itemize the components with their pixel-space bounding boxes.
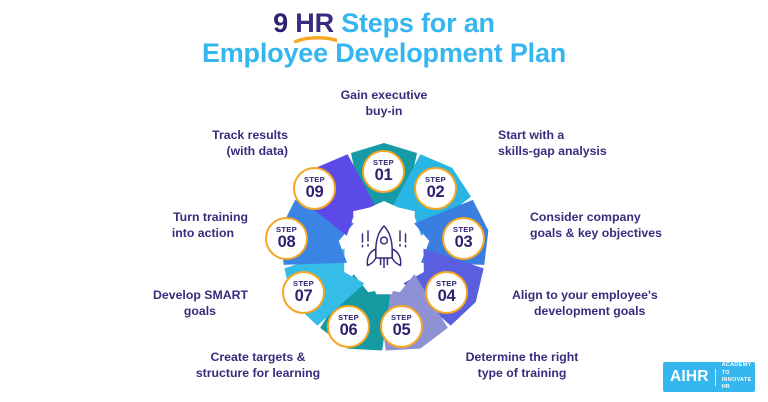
step-label-04-line1: Align to your employee's <box>512 288 762 304</box>
step-label-08: Turn training into action <box>78 210 248 241</box>
title-line-1-rest: Steps for an <box>334 8 495 38</box>
title-number: 9 <box>273 8 295 38</box>
step-label-05-line2: type of training <box>432 366 612 382</box>
step-badge-09-number: 09 <box>306 184 324 201</box>
step-label-02: Start with a skills-gap analysis <box>498 128 698 159</box>
step-label-07: Develop SMART goals <box>98 288 248 319</box>
logo-divider <box>715 369 716 386</box>
step-label-06: Create targets & structure for learning <box>158 350 358 381</box>
step-label-06-line1: Create targets & <box>158 350 358 366</box>
step-badge-01[interactable]: STEP 01 <box>362 150 405 193</box>
step-label-01-line2: buy-in <box>284 104 484 120</box>
step-badge-06-number: 06 <box>340 322 358 339</box>
step-label-04-line2: development goals <box>512 304 762 320</box>
step-badge-07[interactable]: STEP 07 <box>282 271 325 314</box>
step-badge-09[interactable]: STEP 09 <box>293 167 336 210</box>
step-label-09-line1: Track results <box>108 128 288 144</box>
title-line-2: Employee Development Plan <box>0 38 768 68</box>
step-badge-01-number: 01 <box>375 167 393 184</box>
step-badge-04-number: 04 <box>438 288 456 305</box>
step-badge-02[interactable]: STEP 02 <box>414 167 457 210</box>
step-label-03-line2: goals & key objectives <box>530 226 750 242</box>
title-hr-text: HR <box>295 8 334 38</box>
title-line-1: 9 HR Steps for an <box>0 8 768 38</box>
step-label-08-line2: into action <box>78 226 248 242</box>
step-badge-05[interactable]: STEP 05 <box>380 305 423 348</box>
step-badge-03[interactable]: STEP 03 <box>442 217 485 260</box>
step-label-02-line1: Start with a <box>498 128 698 144</box>
step-label-05: Determine the right type of training <box>432 350 612 381</box>
step-label-04: Align to your employee's development goa… <box>512 288 762 319</box>
step-label-03-line1: Consider company <box>530 210 750 226</box>
aihr-logo-tagline: ACADEMY TO INNOVATE HR <box>722 362 752 392</box>
step-label-09-line2: (with data) <box>108 144 288 160</box>
step-badge-05-number: 05 <box>393 322 411 339</box>
aihr-logo-tagline-line1: ACADEMY TO <box>722 362 752 375</box>
aihr-logo-mark: AIHR <box>670 369 709 385</box>
orange-underline-arc <box>294 36 337 43</box>
aihr-logo[interactable]: AIHR ACADEMY TO INNOVATE HR <box>663 362 755 392</box>
step-label-06-line2: structure for learning <box>158 366 358 382</box>
step-label-05-line1: Determine the right <box>432 350 612 366</box>
step-label-07-line2: goals <box>98 304 248 320</box>
step-label-01-line1: Gain executive <box>284 88 484 104</box>
step-badge-04[interactable]: STEP 04 <box>425 271 468 314</box>
step-label-02-line2: skills-gap analysis <box>498 144 698 160</box>
aihr-logo-tagline-line2: INNOVATE HR <box>722 377 752 390</box>
step-badge-08[interactable]: STEP 08 <box>265 217 308 260</box>
step-label-01: Gain executive buy-in <box>284 88 484 119</box>
step-label-08-line1: Turn training <box>78 210 248 226</box>
step-badge-03-number: 03 <box>455 234 473 251</box>
step-label-07-line1: Develop SMART <box>98 288 248 304</box>
step-badge-06[interactable]: STEP 06 <box>327 305 370 348</box>
nine-step-flower-diagram: STEP 01 STEP 02 STEP 03 STEP 04 STEP 05 … <box>263 141 505 357</box>
step-badge-08-number: 08 <box>278 234 296 251</box>
step-label-09: Track results (with data) <box>108 128 288 159</box>
title-hr-highlight: HR <box>295 8 334 38</box>
step-label-03: Consider company goals & key objectives <box>530 210 750 241</box>
step-badge-07-number: 07 <box>295 288 313 305</box>
step-badge-02-number: 02 <box>427 184 445 201</box>
page-title: 9 HR Steps for an Employee Development P… <box>0 8 768 68</box>
